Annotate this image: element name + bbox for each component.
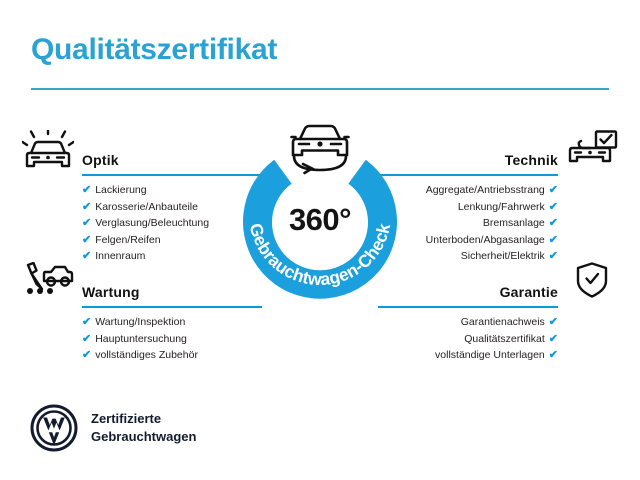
list-item-label: vollständiges Zubehör xyxy=(95,349,198,361)
list-item-label: Bremsanlage xyxy=(483,217,545,229)
list-item-label: Aggregate/Antriebsstrang xyxy=(426,184,545,196)
section-wartung-underline xyxy=(82,306,262,308)
badge-360-gebrauchtwagen-check: Gebrauchtwagen-Check 360° xyxy=(228,122,412,306)
list-item-label: vollständige Unterlagen xyxy=(435,349,545,361)
list-item-label: Lackierung xyxy=(95,184,146,196)
header-divider xyxy=(31,88,609,90)
list-item-label: Hauptuntersuchung xyxy=(95,333,187,345)
section-technik-list: Aggregate/Antriebsstrang✔ Lenkung/Fahrwe… xyxy=(378,182,618,265)
section-wartung-header: Wartung xyxy=(22,262,262,308)
section-garantie-list: Garantienachweis✔ Qualitätszertifikat✔ v… xyxy=(378,314,618,364)
qualitaetszertifikat-page: Qualitätszertifikat xyxy=(0,0,640,480)
shield-check-icon xyxy=(566,262,618,306)
section-technik-title: Technik xyxy=(505,152,558,168)
list-item: ✔Wartung/Inspektion xyxy=(82,314,262,331)
section-garantie: Garantie Garantienachweis✔ Qualitätszert… xyxy=(378,262,618,364)
section-wartung-title: Wartung xyxy=(82,284,140,300)
check-icon: ✔ xyxy=(549,349,558,361)
volkswagen-logo xyxy=(30,404,78,452)
list-item: Garantienachweis✔ xyxy=(378,314,558,331)
check-icon: ✔ xyxy=(82,217,91,229)
section-garantie-title: Garantie xyxy=(500,284,558,300)
check-icon: ✔ xyxy=(82,349,91,361)
list-item-label: Garantienachweis xyxy=(461,316,545,328)
section-optik-title: Optik xyxy=(82,152,119,168)
footer-lockup: Zertifizierte Gebrauchtwagen xyxy=(30,404,196,452)
section-optik: Optik ✔Lackierung ✔Karosserie/Anbauteile… xyxy=(22,130,262,265)
list-item-label: Wartung/Inspektion xyxy=(95,316,185,328)
section-optik-header: Optik xyxy=(22,130,262,176)
footer-line-2: Gebrauchtwagen xyxy=(91,428,196,446)
check-icon: ✔ xyxy=(549,201,558,213)
section-garantie-header: Garantie xyxy=(378,262,618,308)
list-item-label: Unterboden/Abgasanlage xyxy=(426,234,545,246)
check-icon: ✔ xyxy=(82,250,91,262)
footer-text: Zertifizierte Gebrauchtwagen xyxy=(91,410,196,446)
service-book-pen-icon xyxy=(22,262,74,306)
check-icon: ✔ xyxy=(549,184,558,196)
section-wartung: Wartung ✔Wartung/Inspektion ✔Hauptunters… xyxy=(22,262,262,364)
check-icon: ✔ xyxy=(549,250,558,262)
list-item: Qualitätszertifikat✔ xyxy=(378,331,558,348)
list-item-label: Innenraum xyxy=(95,250,145,262)
list-item-label: Felgen/Reifen xyxy=(95,234,160,246)
car-rotate-icon xyxy=(276,120,364,182)
section-optik-list: ✔Lackierung ✔Karosserie/Anbauteile ✔Verg… xyxy=(22,182,262,265)
check-icon: ✔ xyxy=(82,316,91,328)
car-checkbox-icon xyxy=(566,130,618,174)
section-technik-header: Technik xyxy=(378,130,618,176)
check-icon: ✔ xyxy=(549,333,558,345)
list-item-label: Karosserie/Anbauteile xyxy=(95,201,198,213)
footer-line-1: Zertifizierte xyxy=(91,410,196,428)
check-icon: ✔ xyxy=(549,217,558,229)
section-wartung-list: ✔Wartung/Inspektion ✔Hauptuntersuchung ✔… xyxy=(22,314,262,364)
list-item: vollständige Unterlagen✔ xyxy=(378,347,558,364)
list-item-label: Qualitätszertifikat xyxy=(464,333,545,345)
check-icon: ✔ xyxy=(549,316,558,328)
car-shine-icon xyxy=(22,130,74,174)
section-garantie-underline xyxy=(378,306,558,308)
check-icon: ✔ xyxy=(549,234,558,246)
list-item-label: Lenkung/Fahrwerk xyxy=(458,201,545,213)
list-item-label: Verglasung/Beleuchtung xyxy=(95,217,209,229)
list-item-label: Sicherheit/Elektrik xyxy=(461,250,545,262)
check-icon: ✔ xyxy=(82,234,91,246)
section-technik: Technik Aggregate/Antriebsstrang✔ Lenkun… xyxy=(378,130,618,265)
page-title: Qualitätszertifikat xyxy=(31,33,277,67)
list-item: ✔vollständiges Zubehör xyxy=(82,347,262,364)
check-icon: ✔ xyxy=(82,201,91,213)
list-item: ✔Hauptuntersuchung xyxy=(82,331,262,348)
check-icon: ✔ xyxy=(82,333,91,345)
check-icon: ✔ xyxy=(82,184,91,196)
